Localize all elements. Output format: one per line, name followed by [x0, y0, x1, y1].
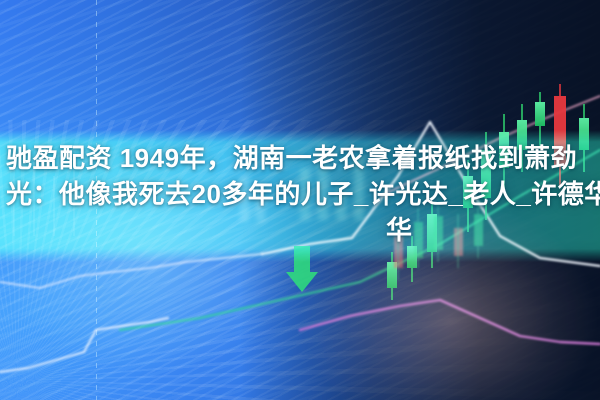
headline-line-3: 华 [386, 212, 594, 248]
thumbnail-canvas: 驰盈配资 1949年，湖南一老农拿着报纸找到萧劲 光：他像我死去20多年的儿子_… [0, 0, 600, 400]
headline-line-2: 光：他像我死去20多年的儿子_许光达_老人_许德华 [6, 176, 594, 212]
headline-text: 驰盈配资 1949年，湖南一老农拿着报纸找到萧劲 光：他像我死去20多年的儿子_… [0, 140, 600, 248]
headline-line-1: 驰盈配资 1949年，湖南一老农拿着报纸找到萧劲 [6, 140, 594, 176]
